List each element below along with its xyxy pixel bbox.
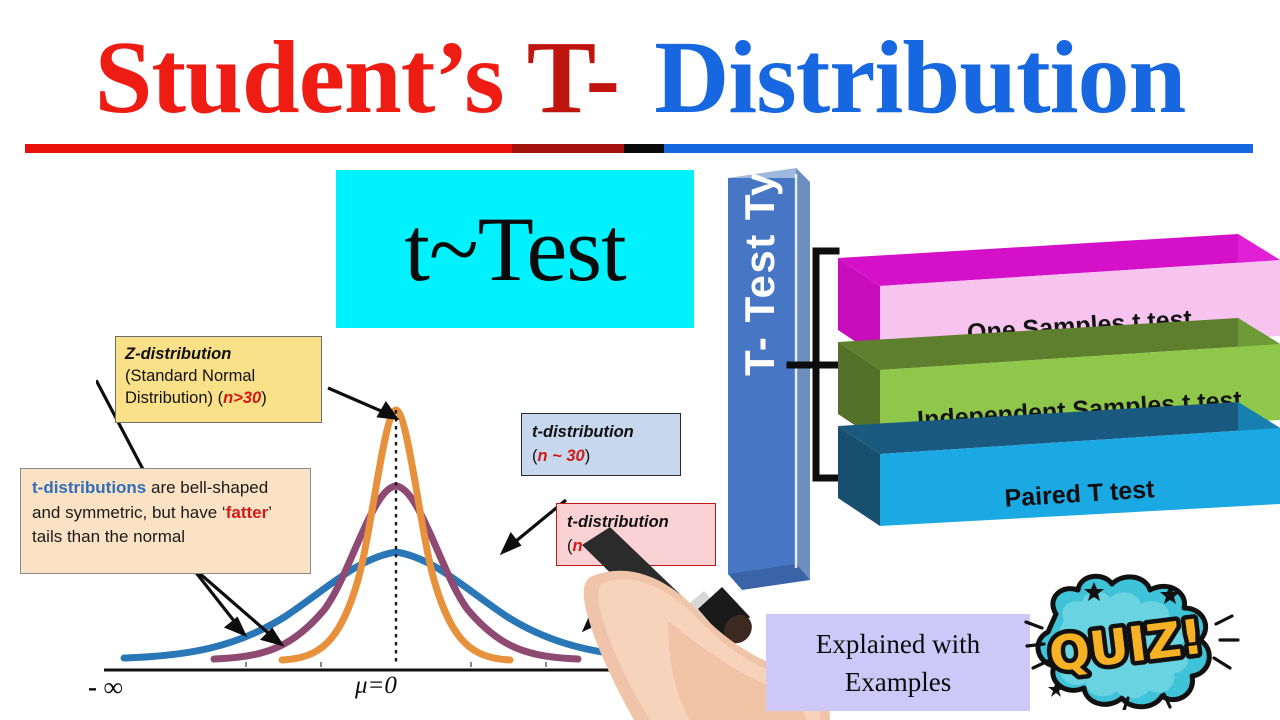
- title-part-t: T-: [527, 20, 619, 135]
- underline-segment-red: [25, 144, 512, 153]
- callout-tmid-close: ): [585, 447, 591, 465]
- callout-t-distribution-mid: t-distribution (n ~ 30): [521, 413, 681, 476]
- underline-segment-dark-red: [512, 144, 624, 153]
- title-text: Student’s T- Distribution: [0, 22, 1280, 134]
- callout-z-condition: n>30: [223, 389, 261, 407]
- title-part-students: Student’s: [95, 20, 527, 135]
- axis-label-negative-infinity: - ∞: [88, 672, 123, 703]
- explained-with-examples-box: Explained with Examples: [766, 614, 1030, 711]
- callout-fat-tails: t-distributions are bell-shaped and symm…: [20, 468, 311, 574]
- callout-tmid-condition: n ~ 30: [538, 447, 585, 465]
- axis-ticks: [246, 662, 546, 667]
- callout-z-line3: Distribution) (n>30): [125, 387, 313, 409]
- quiz-badge[interactable]: QUIZ! QUIZ!: [1020, 570, 1246, 710]
- callout-z-line3-text: Distribution) (: [125, 389, 223, 407]
- ttest-banner-label: t~Test: [404, 201, 625, 297]
- ttest-banner: t~Test: [336, 170, 694, 328]
- ttest-type-column-label: T- Test Type: [736, 160, 783, 376]
- callout-z-line3-close: ): [261, 389, 267, 407]
- callout-z-title: Z-distribution: [125, 343, 313, 365]
- callout-fat-term: t-distributions: [32, 478, 146, 497]
- title-underline: [25, 144, 1253, 153]
- page-title: Student’s T- Distribution: [0, 22, 1280, 142]
- explained-line-2: Examples: [845, 663, 951, 701]
- callout-tmid-title: t-distribution: [532, 420, 672, 444]
- callout-z-distribution: Z-distribution (Standard Normal Distribu…: [115, 336, 322, 423]
- callout-z-line2: (Standard Normal: [125, 365, 313, 387]
- title-part-distribution: Distribution: [619, 20, 1185, 135]
- explained-line-1: Explained with: [816, 625, 980, 663]
- axis-label-mean: μ=0: [355, 672, 397, 700]
- slide-canvas: Student’s T- Distribution t~Test: [0, 0, 1280, 720]
- underline-segment-blue: [664, 144, 1253, 153]
- underline-segment-black: [624, 144, 664, 153]
- callout-tmid-line2: (n ~ 30): [532, 444, 672, 468]
- callout-fat-emphasis: fatter: [226, 503, 269, 522]
